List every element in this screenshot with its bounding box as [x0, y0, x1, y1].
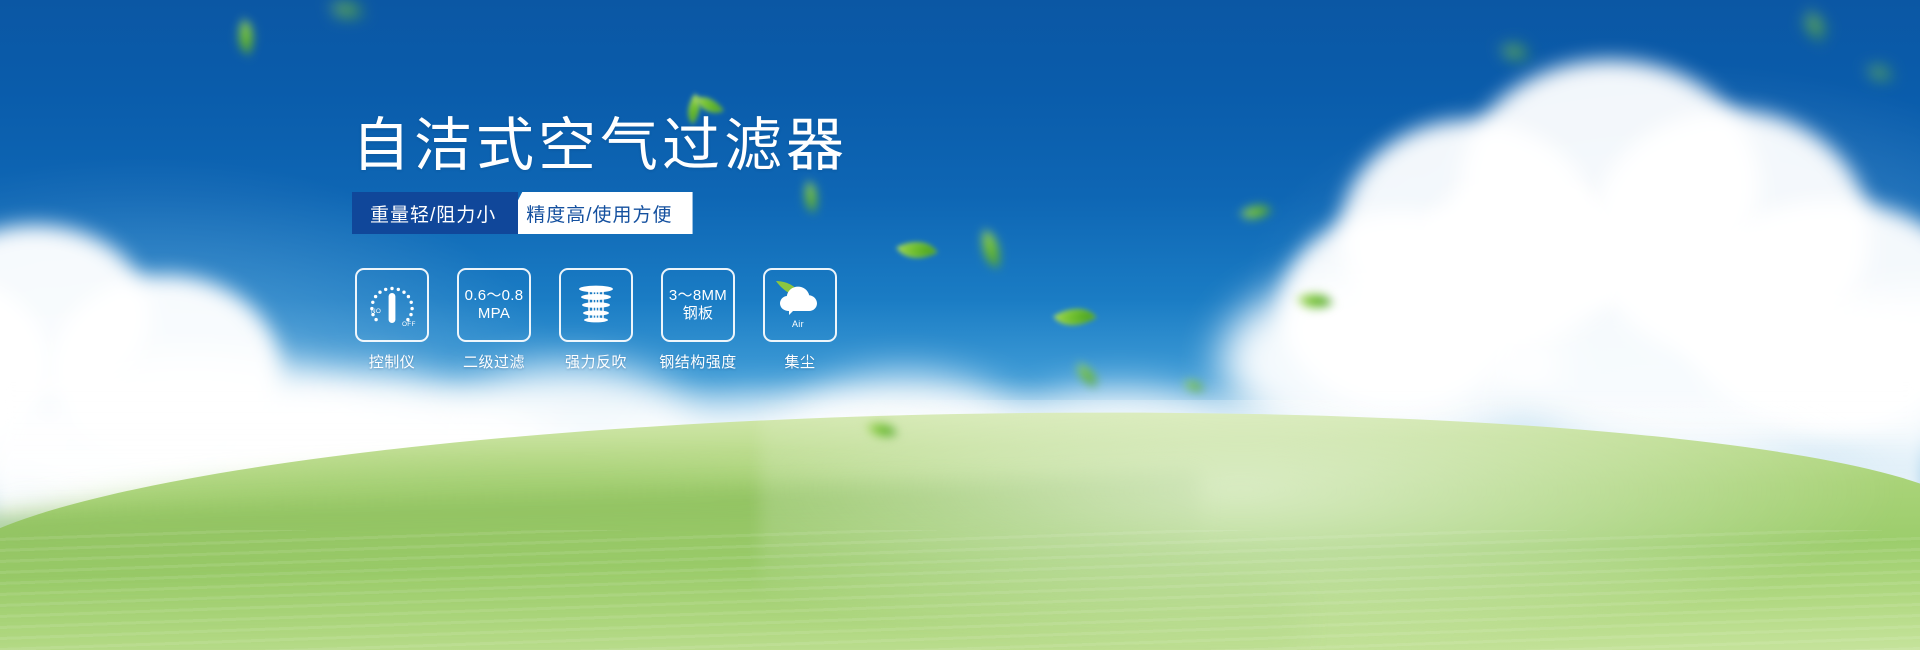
feature-item-controller[interactable]: NO OFF 控制仪 — [355, 268, 429, 372]
feature-list: NO OFF 控制仪 0.6～0.8 MPA 二级过滤 — [355, 268, 837, 372]
feature-item-dust-collection[interactable]: Air 集尘 — [763, 268, 837, 372]
feature-value-line2: MPA — [478, 305, 510, 323]
svg-text:OFF: OFF — [402, 321, 416, 328]
feature-label: 钢结构强度 — [659, 351, 737, 372]
banner-content: 自洁式空气过滤器 重量轻/阻力小 精度高/使用方便 — [0, 0, 1920, 650]
feature-item-pulse-blowback[interactable]: 强力反吹 — [559, 268, 633, 372]
feature-label: 二级过滤 — [463, 351, 525, 372]
feature-item-steel-strength[interactable]: 3～8MM 钢板 钢结构强度 — [661, 268, 735, 372]
badge-precision-convenience[interactable]: 精度高/使用方便 — [500, 192, 692, 234]
air-cloud-caption: Air — [792, 319, 804, 329]
feature-icon-box — [559, 268, 633, 342]
feature-value-line1: 0.6～0.8 — [465, 287, 524, 305]
feature-label: 强力反吹 — [565, 351, 627, 372]
gauge-dial-icon: NO OFF — [366, 279, 418, 331]
hero-banner: 自洁式空气过滤器 重量轻/阻力小 精度高/使用方便 — [0, 0, 1920, 650]
page-title: 自洁式空气过滤器 — [352, 117, 848, 175]
feature-item-secondary-filtration[interactable]: 0.6～0.8 MPA 二级过滤 — [457, 268, 531, 372]
tagline-badges: 重量轻/阻力小 精度高/使用方便 — [352, 192, 693, 234]
badge-weight-resistance[interactable]: 重量轻/阻力小 — [352, 192, 518, 234]
filter-coil-icon — [571, 280, 621, 330]
svg-text:NO: NO — [371, 308, 381, 315]
feature-icon-box: NO OFF — [355, 268, 429, 342]
air-cloud-icon: Air — [772, 279, 828, 331]
feature-value-line2: 钢板 — [683, 305, 714, 323]
feature-label: 控制仪 — [369, 351, 416, 372]
feature-icon-box: Air — [763, 268, 837, 342]
feature-label: 集尘 — [784, 351, 815, 372]
feature-icon-box: 3～8MM 钢板 — [661, 268, 735, 342]
feature-icon-box: 0.6～0.8 MPA — [457, 268, 531, 342]
feature-value-line1: 3～8MM — [669, 287, 727, 305]
